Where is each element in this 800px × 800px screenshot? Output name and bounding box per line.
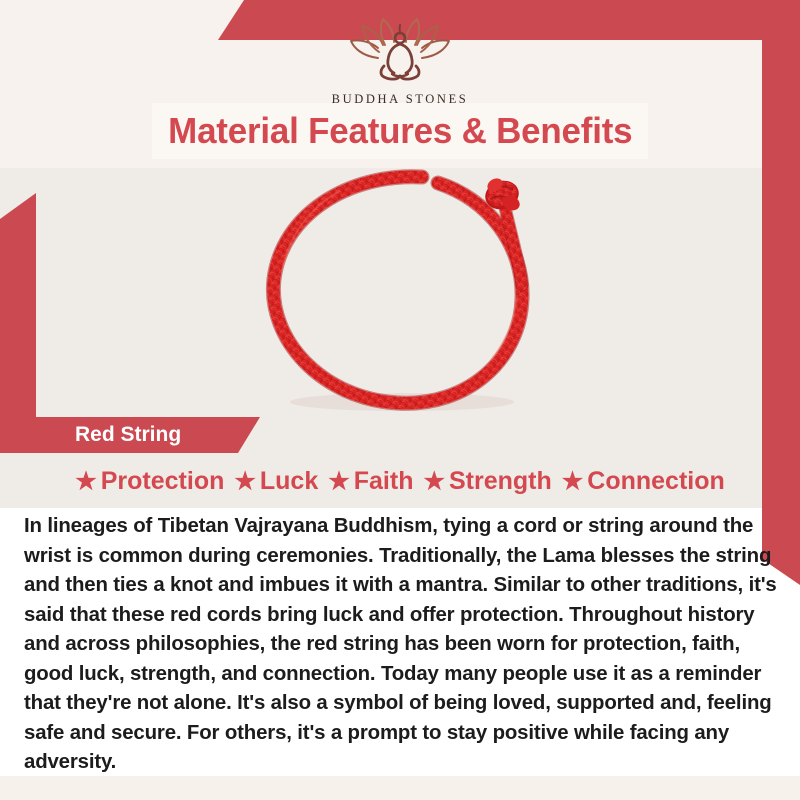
benefit-label: Protection <box>101 467 225 496</box>
star-icon: ★ <box>328 470 350 494</box>
material-label-text: Red String <box>75 423 181 447</box>
lotus-meditation-figure-icon <box>348 14 452 88</box>
benefit-label: Faith <box>354 467 414 496</box>
benefit-item-strength: ★ Strength <box>418 467 556 496</box>
product-image <box>0 166 800 416</box>
page-title: Material Features & Benefits <box>168 110 632 152</box>
benefit-item-protection: ★ Protection <box>70 467 229 496</box>
benefit-item-luck: ★ Luck <box>229 467 323 496</box>
title-banner: Material Features & Benefits <box>152 103 648 159</box>
benefit-item-faith: ★ Faith <box>323 467 418 496</box>
star-icon: ★ <box>234 470 256 494</box>
background-footer-band <box>0 776 800 800</box>
infographic-page: BUDDHA STONES Material Features & Benefi… <box>0 0 800 800</box>
benefits-list: ★ Protection ★ Luck ★ Faith ★ Strength ★… <box>0 467 800 496</box>
material-label-banner: Red String <box>28 417 260 453</box>
star-icon: ★ <box>423 470 445 494</box>
star-icon: ★ <box>75 470 97 494</box>
red-braided-bracelet-illustration <box>230 159 570 424</box>
brand-logo: BUDDHA STONES <box>0 14 800 107</box>
star-icon: ★ <box>562 470 584 494</box>
benefit-label: Connection <box>587 467 725 496</box>
benefit-label: Luck <box>260 467 318 496</box>
benefit-label: Strength <box>449 467 552 496</box>
benefit-item-connection: ★ Connection <box>557 467 730 496</box>
description-paragraph: In lineages of Tibetan Vajrayana Buddhis… <box>24 512 780 778</box>
